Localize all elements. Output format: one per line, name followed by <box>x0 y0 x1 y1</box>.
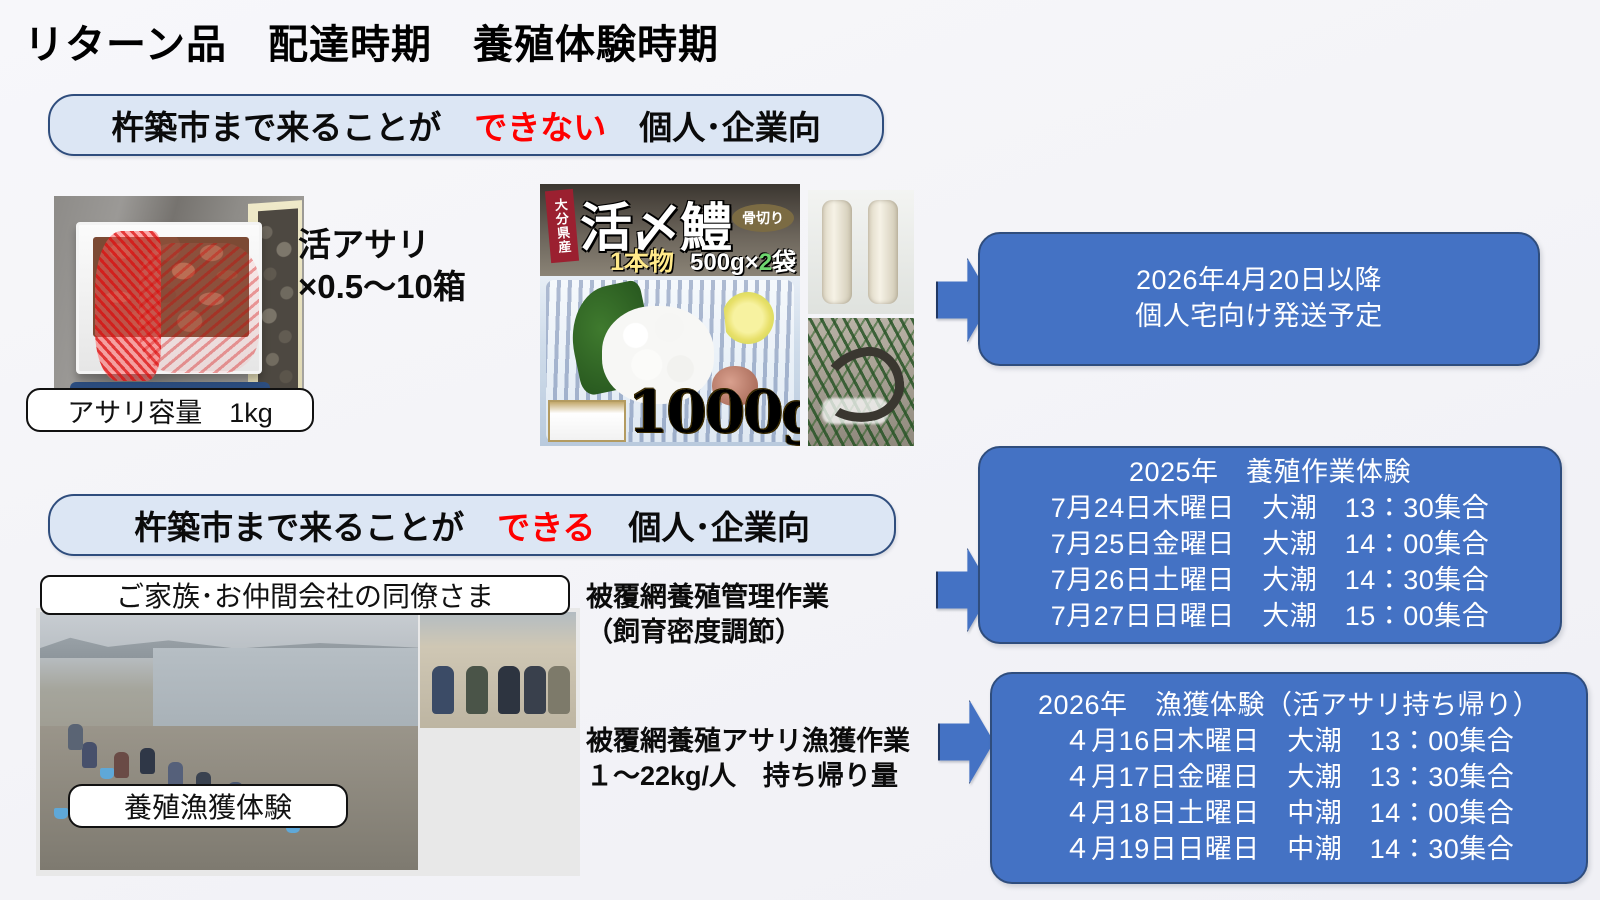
infobox-line: ４月19日日曜日 中潮 14：30集合 <box>1064 832 1515 868</box>
infobox-line: 個人宅向け発送予定 <box>1135 299 1383 335</box>
banner-prefix: 杵築市まで来ることが <box>111 109 474 146</box>
photo-person <box>82 742 97 768</box>
banner-can-visit-text: 杵築市まで来ることが できる 個人･企業向 <box>134 501 810 549</box>
photo-person <box>432 666 454 714</box>
infobox-line: 7月25日金曜日 大潮 14：00集合 <box>1051 527 1490 563</box>
banner-can-visit: 杵築市まで来ることが できる 個人･企業向 <box>48 494 896 556</box>
infobox-line: ４月18日土曜日 中潮 14：00集合 <box>1064 796 1515 832</box>
photo-harvested-clams-inset <box>420 734 576 872</box>
arrow-shape <box>938 700 994 784</box>
photo-person <box>114 752 129 778</box>
banner-accent-can: できる <box>497 509 595 546</box>
photo-harvest-experience <box>36 608 580 876</box>
photo-hamo-dish: 1000g <box>540 276 800 446</box>
infobox-line: ４月16日木曜日 大潮 13：00集合 <box>1064 724 1515 760</box>
infobox-harvest-experience-schedule: 2026年 漁獲体験（活アサリ持ち帰り） ４月16日木曜日 大潮 13：00集合… <box>990 672 1588 884</box>
infobox-line: 7月26日土曜日 大潮 14：30集合 <box>1051 563 1490 599</box>
photo-packed-tray <box>548 400 626 442</box>
photo-red-net-overlay <box>139 243 259 373</box>
banner-accent-cannot: できない <box>474 109 606 146</box>
package-one-piece-label: 1本物 <box>610 242 674 278</box>
photo-person <box>498 666 520 714</box>
slide-canvas: リターン品 配達時期 養殖体験時期 杵築市まで来ることが できない 個人･企業向… <box>0 0 1600 900</box>
infobox-line: 7月27日日曜日 大潮 15：00集合 <box>1051 599 1490 635</box>
photo-person <box>140 748 155 774</box>
photo-fillet-right <box>868 200 898 304</box>
label-management-work: 被覆網養殖管理作業 （飼育密度調節） <box>586 580 829 649</box>
infobox-farming-experience-schedule: 2025年 養殖作業体験 7月24日木曜日 大潮 13：30集合 7月25日金曜… <box>978 446 1562 644</box>
infobox-line: 2025年 養殖作業体験 <box>1129 455 1411 491</box>
photo-hamo-package: 大分県産 活〆鱧 骨切り 1本物 500g×2袋 1000g <box>540 184 800 446</box>
package-weight-label: 500g×2袋 <box>690 242 796 277</box>
photo-sea <box>153 648 418 736</box>
photo-person <box>68 724 83 750</box>
arrow-right-icon <box>938 700 994 784</box>
banner-suffix: 個人･企業向 <box>595 509 810 546</box>
label-asari-product: 活アサリ ×0.5〜10箱 <box>298 224 466 308</box>
photo-loose-clams <box>258 208 298 393</box>
infobox-shipping-schedule: 2026年4月20日以降 個人宅向け発送予定 <box>978 232 1540 366</box>
photo-whole-hamo-on-ice <box>808 318 914 446</box>
photo-bucket <box>54 808 68 819</box>
infobox-line: 7月24日木曜日 大潮 13：30集合 <box>1051 491 1490 527</box>
photo-bucket <box>100 768 114 779</box>
caption-family-group: ご家族･お仲間会社の同僚さま <box>40 575 570 615</box>
infobox-line: ４月17日金曜日 大潮 13：30集合 <box>1064 760 1515 796</box>
banner-cannot-visit-text: 杵築市まで来ることが できない 個人･企業向 <box>111 101 821 149</box>
banner-prefix: 杵築市まで来ることが <box>134 509 497 546</box>
photo-lemon-slice <box>722 292 774 344</box>
weight-count: 2 <box>759 249 772 276</box>
infobox-line: 2026年4月20日以降 <box>1136 263 1382 299</box>
package-prefecture-badge: 大分県産 <box>545 189 579 263</box>
weight-prefix: 500g× <box>690 249 759 276</box>
photo-beach-main <box>40 612 418 870</box>
package-bone-cut-badge: 骨切り <box>732 204 794 232</box>
photo-person <box>548 666 570 714</box>
photo-person <box>466 666 488 714</box>
photo-packed-fillets <box>808 190 914 314</box>
photo-group-inset <box>420 612 576 728</box>
caption-asari-capacity: アサリ容量 1kg <box>26 388 314 432</box>
caption-farm-harvest-experience: 養殖漁獲体験 <box>68 784 348 828</box>
photo-styrofoam-box <box>76 222 262 374</box>
photo-person <box>524 666 546 714</box>
page-title: リターン品 配達時期 養殖体験時期 <box>24 12 719 70</box>
label-harvest-work: 被覆網養殖アサリ漁獲作業 １〜22kg/人 持ち帰り量 <box>586 724 910 793</box>
weight-suffix: 袋 <box>772 249 796 276</box>
banner-suffix: 個人･企業向 <box>606 109 821 146</box>
infobox-line: 2026年 漁獲体験（活アサリ持ち帰り） <box>1038 688 1540 724</box>
package-total-weight: 1000g <box>628 378 800 446</box>
photo-fillet-left <box>822 200 852 304</box>
banner-cannot-visit: 杵築市まで来ることが できない 個人･企業向 <box>48 94 884 156</box>
photo-package-header: 大分県産 活〆鱧 骨切り 1本物 500g×2袋 <box>540 184 800 276</box>
